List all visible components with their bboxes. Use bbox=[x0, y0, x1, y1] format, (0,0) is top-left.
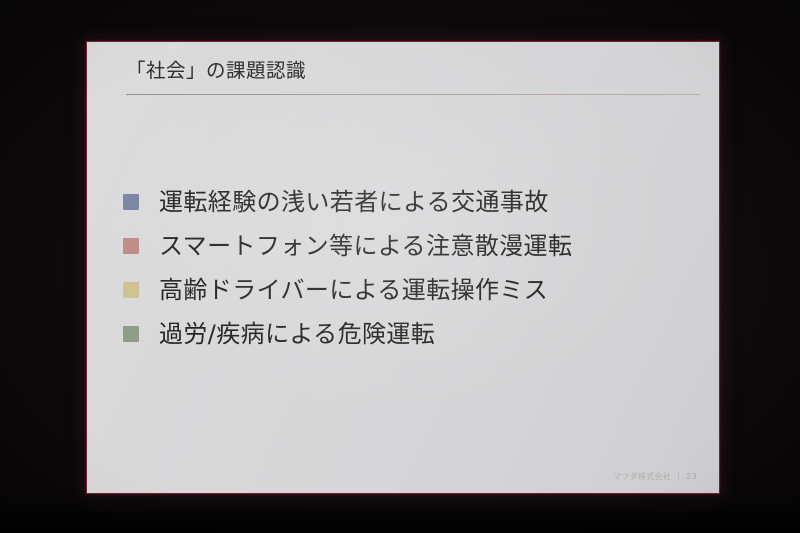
list-item: 高齢ドライバーによる運転操作ミス bbox=[123, 268, 683, 312]
projection-screen-frame: 「社会」の課題認識 運転経験の浅い若者による交通事故 スマートフォン等による注意… bbox=[87, 42, 719, 493]
slide-footer: マツダ株式会社 | 23 bbox=[613, 471, 697, 482]
bullet-square-icon bbox=[123, 194, 139, 210]
footer-page-number: 23 bbox=[686, 472, 697, 481]
slide-title: 「社会」の課題認識 bbox=[126, 54, 306, 83]
bullet-list: 運転経験の浅い若者による交通事故 スマートフォン等による注意散漫運転 高齢ドライ… bbox=[123, 180, 683, 356]
list-item: 過労/疾病による危険運転 bbox=[123, 312, 683, 356]
bullet-square-icon bbox=[123, 326, 139, 342]
footer-company-name: マツダ株式会社 bbox=[613, 471, 671, 482]
projected-slide-photograph: 「社会」の課題認識 運転経験の浅い若者による交通事故 スマートフォン等による注意… bbox=[0, 0, 800, 533]
list-item-label: 運転経験の浅い若者による交通事故 bbox=[159, 190, 549, 214]
bullet-square-icon bbox=[123, 282, 139, 298]
presentation-slide: 「社会」の課題認識 運転経験の浅い若者による交通事故 スマートフォン等による注意… bbox=[87, 42, 719, 493]
list-item-label: 高齢ドライバーによる運転操作ミス bbox=[159, 278, 548, 302]
list-item-label: 過労/疾病による危険運転 bbox=[159, 322, 435, 346]
footer-separator: | bbox=[677, 472, 680, 481]
title-divider-rule bbox=[126, 94, 700, 95]
bullet-square-icon bbox=[123, 238, 139, 254]
list-item: スマートフォン等による注意散漫運転 bbox=[123, 224, 683, 268]
list-item: 運転経験の浅い若者による交通事故 bbox=[123, 180, 683, 224]
list-item-label: スマートフォン等による注意散漫運転 bbox=[159, 234, 572, 258]
